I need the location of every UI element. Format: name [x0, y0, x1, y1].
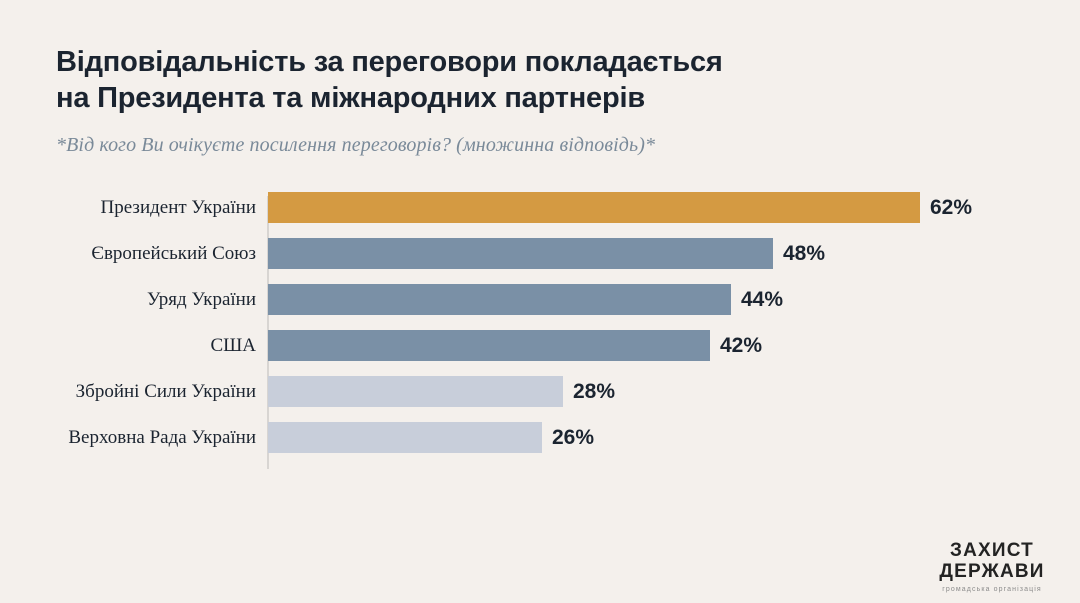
bar-segment: [268, 284, 731, 315]
logo-line-1: ЗАХИСТ: [922, 541, 1062, 560]
bar-row: Європейський Союз48%: [0, 238, 1080, 284]
bar-row: Уряд України44%: [0, 284, 1080, 330]
bar-category-label: Верховна Рада України: [68, 422, 256, 453]
bar-segment: [268, 238, 773, 269]
bar-category-label: США: [210, 330, 256, 361]
bar-value-label: 42%: [720, 330, 762, 361]
logo-line-2: ДЕРЖАВИ: [922, 562, 1062, 581]
bar-segment: [268, 330, 710, 361]
bar-chart: Президент України62%Європейський Союз48%…: [0, 192, 1080, 477]
bar-category-label: Президент України: [101, 192, 256, 223]
bar-value-label: 44%: [741, 284, 783, 315]
bar-row: Збройні Сили України28%: [0, 376, 1080, 422]
bar-value-label: 48%: [783, 238, 825, 269]
bar-segment: [268, 376, 563, 407]
bar-value-label: 62%: [930, 192, 972, 223]
bar-category-label: Збройні Сили України: [76, 376, 256, 407]
chart-header: Відповідальність за переговори покладаєт…: [56, 44, 956, 158]
bar-value-label: 28%: [573, 376, 615, 407]
logo-tagline: громадська організація: [922, 586, 1062, 593]
bar-row: Президент України62%: [0, 192, 1080, 238]
infographic-canvas: Відповідальність за переговори покладаєт…: [0, 0, 1080, 603]
bar-category-label: Уряд України: [147, 284, 256, 315]
bar-row: Верховна Рада України26%: [0, 422, 1080, 468]
bar-segment: [268, 422, 542, 453]
bar-rows: Президент України62%Європейський Союз48%…: [0, 192, 1080, 468]
page-title: Відповідальність за переговори покладаєт…: [56, 44, 956, 116]
bar-segment: [268, 192, 920, 223]
bar-category-label: Європейський Союз: [91, 238, 256, 269]
bar-row: США42%: [0, 330, 1080, 376]
chart-subtitle: *Від кого Ви очікуєте посилення перегово…: [56, 116, 956, 158]
bar-value-label: 26%: [552, 422, 594, 453]
organization-logo: ЗАХИСТ ДЕРЖАВИ громадська організація: [922, 541, 1062, 593]
